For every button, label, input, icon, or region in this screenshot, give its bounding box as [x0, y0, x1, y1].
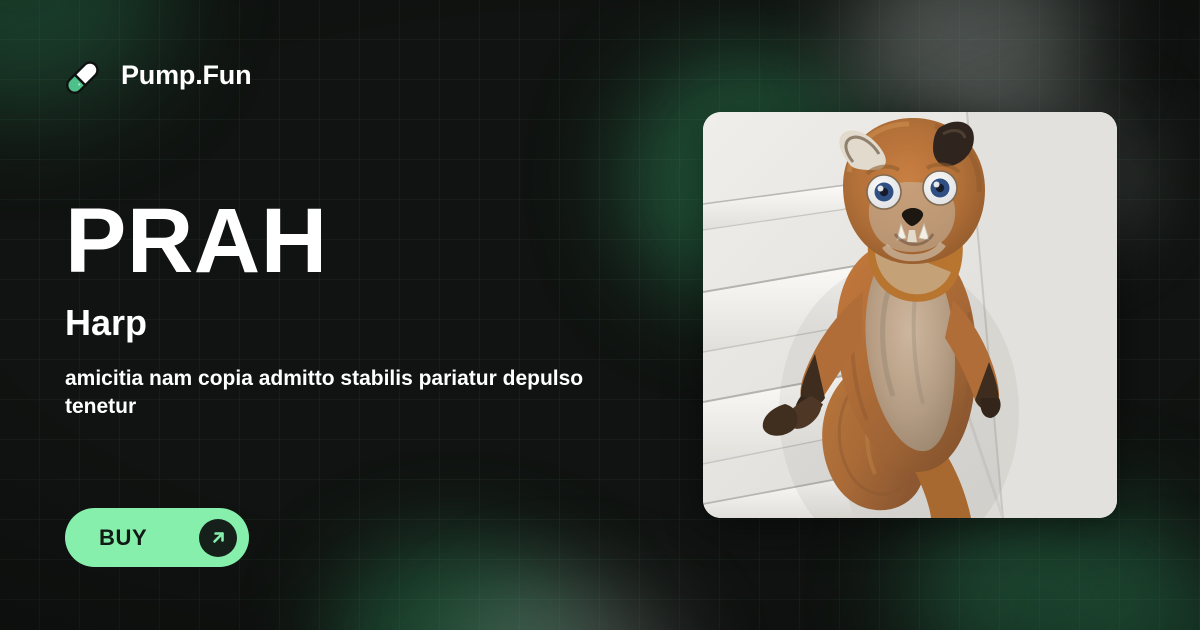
brand-header[interactable]: Pump.Fun — [65, 55, 251, 95]
coin-image-card[interactable] — [703, 112, 1117, 518]
pill-icon — [65, 55, 105, 95]
coin-name: Harp — [65, 303, 665, 343]
brand-name: Pump.Fun — [121, 62, 251, 89]
arrow-up-right-icon — [199, 519, 237, 557]
buy-button[interactable]: BUY — [65, 508, 249, 567]
social-card-canvas: Pump.Fun PRAH Harp amicitia nam copia ad… — [0, 0, 1200, 630]
buy-button-label: BUY — [99, 527, 147, 549]
fox-photo — [703, 112, 1117, 518]
coin-ticker: PRAH — [65, 195, 665, 287]
coin-description: amicitia nam copia admitto stabilis pari… — [65, 365, 585, 422]
coin-info-block: PRAH Harp amicitia nam copia admitto sta… — [65, 195, 665, 421]
